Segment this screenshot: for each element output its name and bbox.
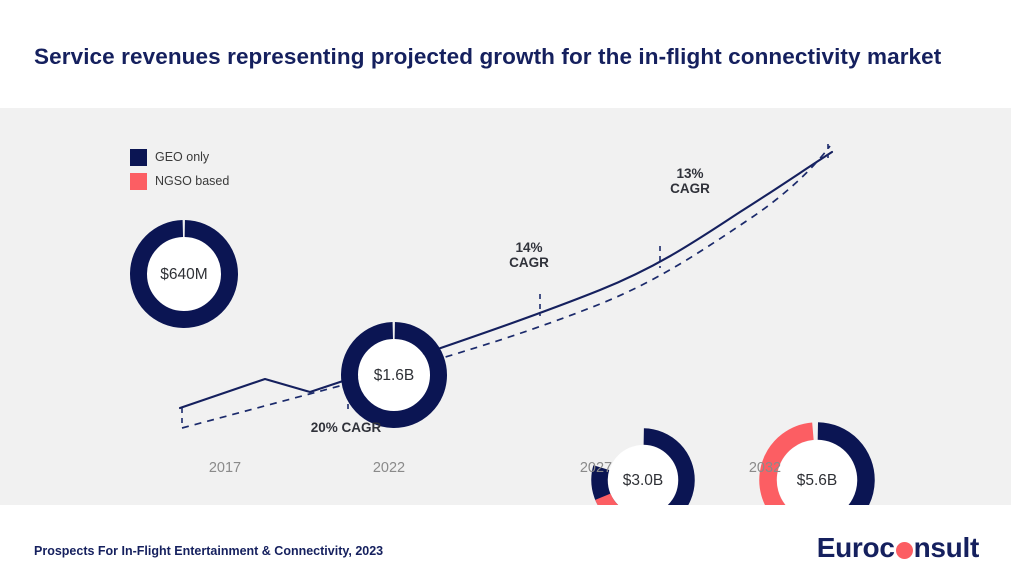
logo-dot-icon <box>896 542 913 559</box>
year-label-2027: 2027 <box>561 460 631 476</box>
trend-line-dashed <box>182 146 830 428</box>
chart-canvas <box>0 108 1011 505</box>
euroconsult-logo: Euroc nsult <box>817 531 979 565</box>
slide-root: Service revenues representing projected … <box>0 0 1011 580</box>
footer-source-text: Prospects For In-Flight Entertainment & … <box>34 544 383 558</box>
donut-value-2017: $640M <box>134 266 234 284</box>
cagr-label-segment-3: 13% CAGR <box>648 166 732 196</box>
chart-panel: GEO only NGSO based <box>0 108 1011 505</box>
year-label-2017: 2017 <box>190 460 260 476</box>
cagr-label-segment-1: 20% CAGR <box>296 420 396 435</box>
logo-text-part2: nsult <box>914 534 979 562</box>
cagr-label-segment-2: 14% CAGR <box>487 240 571 270</box>
page-title: Service revenues representing projected … <box>34 44 941 70</box>
donut-2032[interactable] <box>748 411 885 505</box>
trend-line-solid <box>180 152 832 408</box>
footer-bar: Prospects For In-Flight Entertainment & … <box>0 505 1011 580</box>
title-bar: Service revenues representing projected … <box>0 0 1011 108</box>
logo-text-part1: Euroc <box>817 534 895 562</box>
year-label-2022: 2022 <box>354 460 424 476</box>
year-label-2032: 2032 <box>730 460 800 476</box>
donut-value-2022: $1.6B <box>344 367 444 385</box>
